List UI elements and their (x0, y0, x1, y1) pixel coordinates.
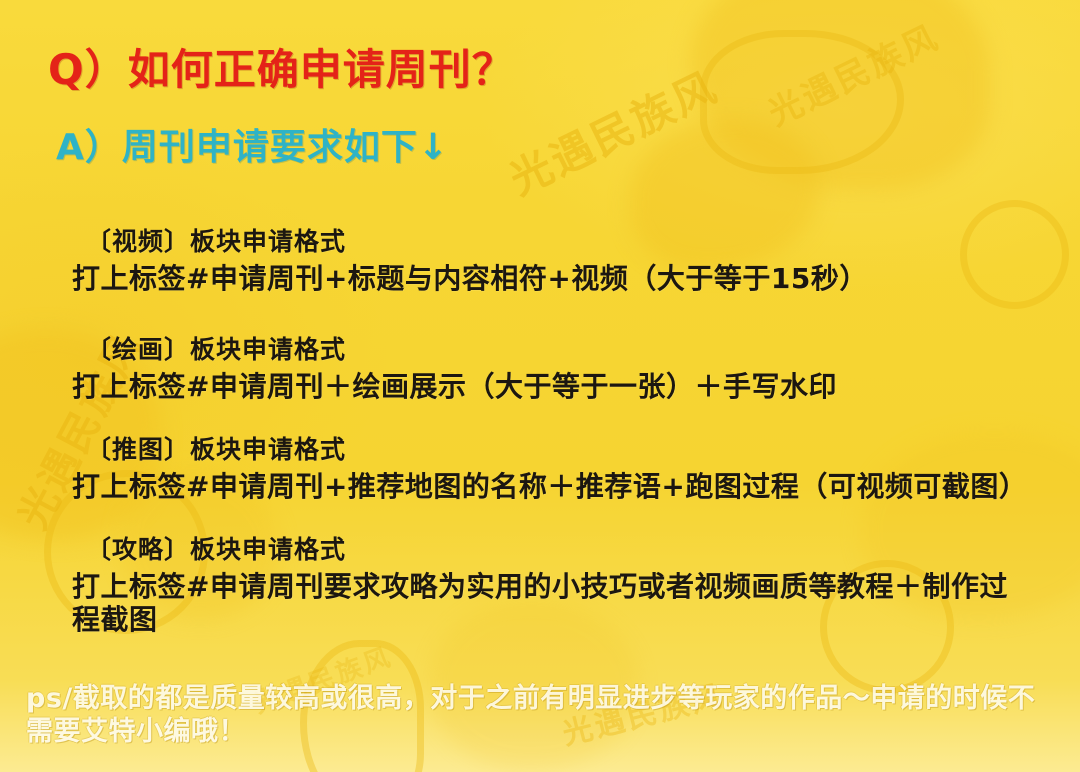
rule-block-guide: 〔攻略〕板块申请格式 打上标签#申请周刊要求攻略为实用的小技巧或者视频画质等教程… (72, 530, 1062, 636)
rule-heading: 〔攻略〕板块申请格式 (72, 530, 1062, 566)
poster-content: Q）如何正确申请周刊？ A）周刊申请要求如下↓ 〔视频〕板块申请格式 打上标签#… (0, 0, 1080, 772)
rule-block-drawing: 〔绘画〕板块申请格式 打上标签#申请周刊＋绘画展示（大于等于一张）＋手写水印 (72, 330, 1062, 403)
rule-heading: 〔绘画〕板块申请格式 (72, 330, 1062, 366)
rule-heading: 〔推图〕板块申请格式 (72, 430, 1062, 466)
ps-note: ps/截取的都是质量较高或很高，对于之前有明显进步等玩家的作品～申请的时候不需要… (26, 682, 1061, 749)
rule-body: 打上标签#申请周刊+推荐地图的名称＋推荐语+跑图过程（可视频可截图） (72, 470, 1032, 503)
rule-block-map-recommendation: 〔推图〕板块申请格式 打上标签#申请周刊+推荐地图的名称＋推荐语+跑图过程（可视… (72, 430, 1062, 503)
rule-heading: 〔视频〕板块申请格式 (72, 222, 1062, 258)
answer-heading: A）周刊申请要求如下↓ (56, 118, 449, 170)
rule-body: 打上标签#申请周刊要求攻略为实用的小技巧或者视频画质等教程＋制作过程截图 (72, 570, 1032, 636)
question-heading: Q）如何正确申请周刊？ (48, 36, 515, 97)
rule-body: 打上标签#申请周刊+标题与内容相符+视频（大于等于15秒） (72, 262, 1032, 295)
rule-block-video: 〔视频〕板块申请格式 打上标签#申请周刊+标题与内容相符+视频（大于等于15秒） (72, 222, 1062, 295)
rule-body: 打上标签#申请周刊＋绘画展示（大于等于一张）＋手写水印 (72, 370, 1032, 403)
poster-canvas: 光遇民族风 光遇民族风 光遇民族风 光遇民族风 光遇民族风 Q）如何正确申请周刊… (0, 0, 1080, 772)
